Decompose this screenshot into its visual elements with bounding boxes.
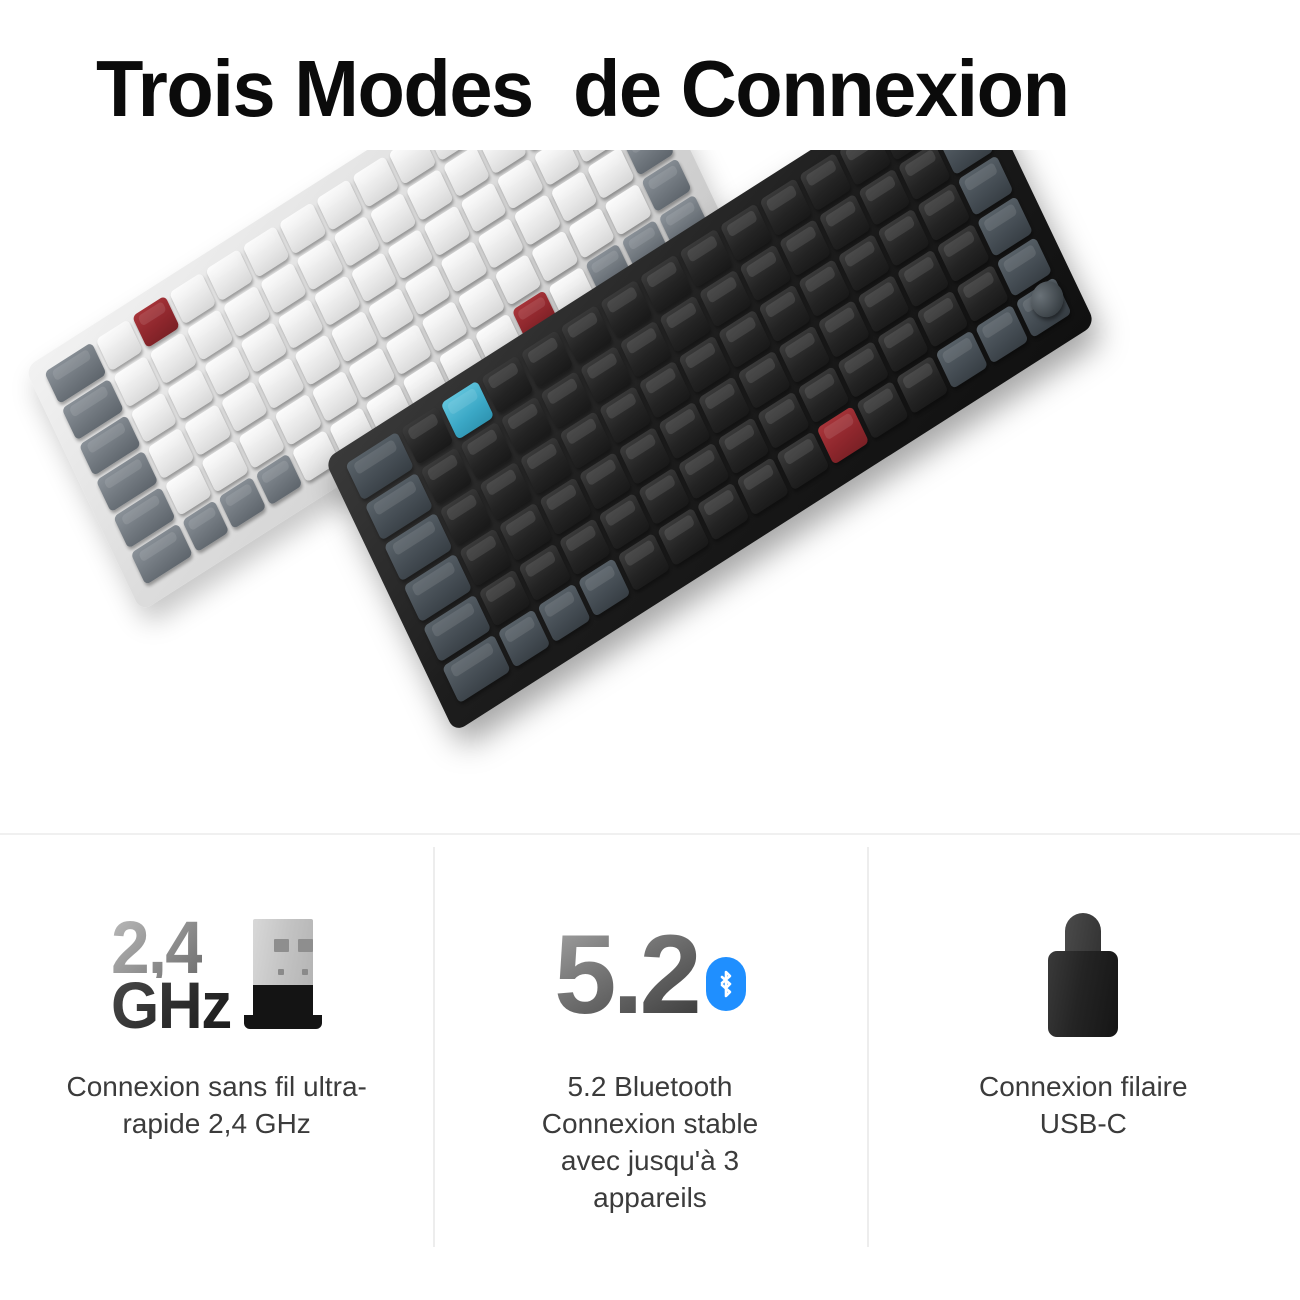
feature-wireless-24ghz: 2,4 GHz Connexion san xyxy=(0,835,433,1300)
usb-dongle-base xyxy=(253,985,313,1019)
feature-bluetooth-52: 5.2 5.2 Bluetooth Connexion stable avec … xyxy=(433,835,866,1300)
feature-wired-usbc: Connexion filaire USB-C xyxy=(867,835,1300,1300)
ghz-unit: GHz xyxy=(111,978,231,1032)
feature-graphic-24ghz: 2,4 GHz xyxy=(111,907,323,1043)
feature-panels: 2,4 GHz Connexion san xyxy=(0,833,1300,1300)
bluetooth-lockup: 5.2 xyxy=(554,925,746,1026)
usb-dongle-dot-left xyxy=(278,969,284,975)
usb-dongle-hole-right xyxy=(298,939,313,952)
feature-caption-bluetooth: 5.2 Bluetooth Connexion stable avec jusq… xyxy=(470,1069,830,1217)
hero-stage xyxy=(0,150,1300,833)
ghz-text: 2,4 GHz xyxy=(111,918,239,1033)
promo-page: Trois Modes de Connexion 2,4 GHz xyxy=(0,0,1300,1300)
feature-graphic-bluetooth: 5.2 xyxy=(554,907,746,1043)
usb-dongle-foot xyxy=(244,1015,322,1029)
feature-caption-usbc: Connexion filaire USB-C xyxy=(903,1069,1263,1143)
bluetooth-icon xyxy=(706,957,746,1011)
usb-c-body xyxy=(1048,951,1118,1037)
ghz-lockup: 2,4 GHz xyxy=(111,918,323,1033)
hero-keyboard-image xyxy=(0,150,1300,833)
feature-caption-24ghz: Connexion sans fil ultra- rapide 2,4 GHz xyxy=(37,1069,397,1143)
usb-dongle-dot-right xyxy=(302,969,308,975)
feature-graphic-usbc xyxy=(1040,907,1126,1043)
usb-dongle-metal-top xyxy=(253,919,313,991)
usb-dongle-hole-left xyxy=(274,939,289,952)
title-bar: Trois Modes de Connexion xyxy=(0,34,1300,144)
bluetooth-version-number: 5.2 xyxy=(554,925,698,1026)
page-title: Trois Modes de Connexion xyxy=(96,49,1069,129)
usb-dongle-icon xyxy=(244,919,322,1031)
usb-c-connector-icon xyxy=(1040,913,1126,1037)
